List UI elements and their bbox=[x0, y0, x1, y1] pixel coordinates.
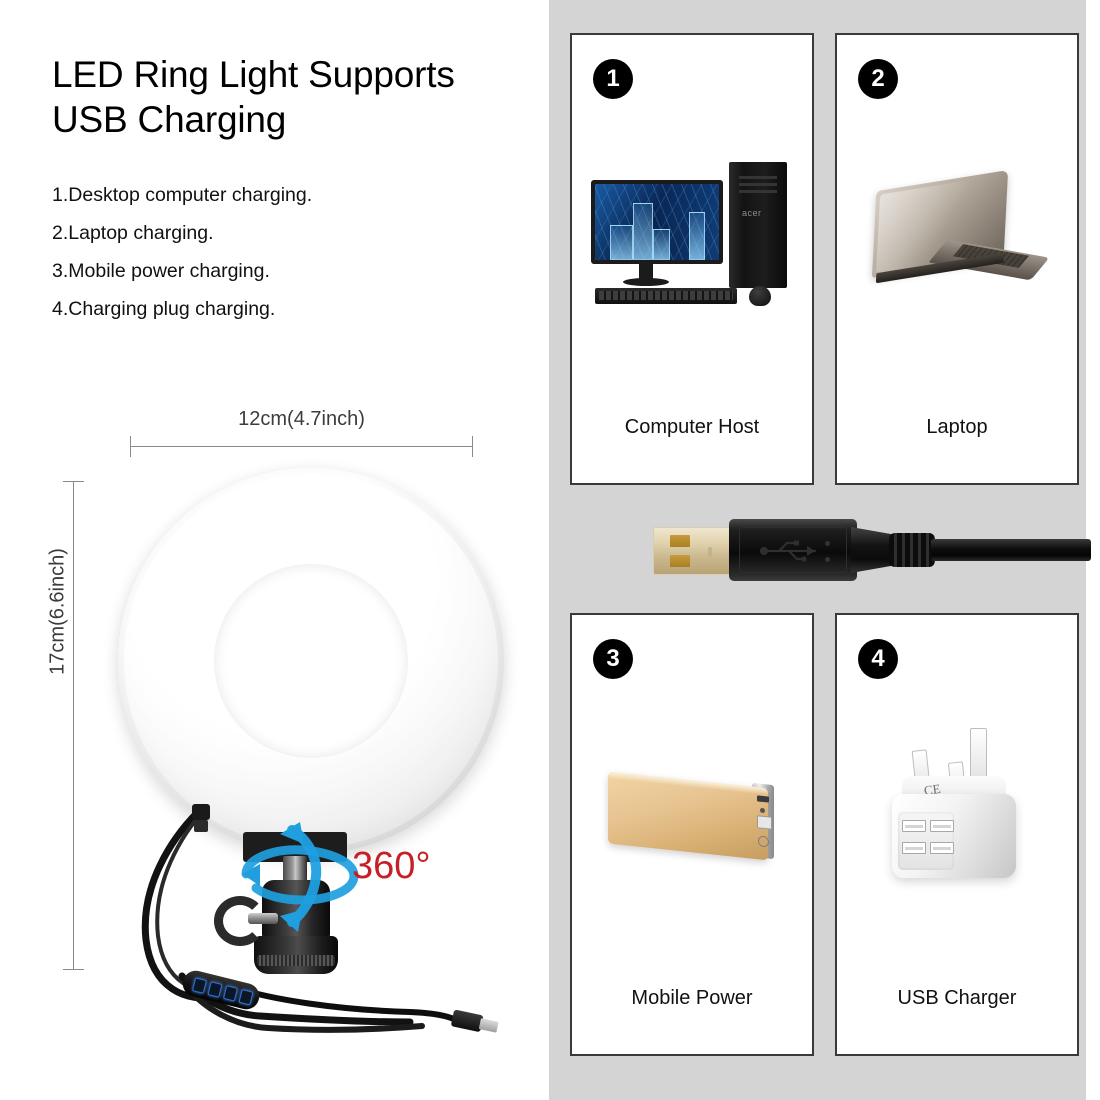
power-bank-icon bbox=[572, 761, 812, 871]
power-cable bbox=[110, 790, 530, 1080]
usb-contact-blade bbox=[670, 535, 690, 547]
keyboard-icon bbox=[595, 288, 737, 304]
product-info-column: LED Ring Light Supports USB Charging 1.D… bbox=[0, 0, 549, 1100]
usb-wall-charger-icon: CE bbox=[837, 715, 1077, 895]
list-item: 4.Charging plug charging. bbox=[52, 290, 512, 328]
charging-options-panel: 1 acer Computer Host 2 bbox=[549, 0, 1086, 1100]
height-dimension-label: 17cm(6.6inch) bbox=[47, 492, 70, 732]
usb-port bbox=[902, 842, 926, 854]
usb-housing-dots bbox=[825, 541, 830, 573]
usb-contact-blade bbox=[670, 555, 690, 567]
usb-housing bbox=[729, 519, 857, 581]
page-title: LED Ring Light Supports USB Charging bbox=[52, 52, 512, 142]
usb-port bbox=[930, 820, 954, 832]
controller-button[interactable] bbox=[223, 985, 238, 1001]
list-item: 3.Mobile power charging. bbox=[52, 252, 512, 290]
power-bank-usb-port bbox=[757, 815, 772, 830]
card-label: Laptop bbox=[837, 416, 1077, 439]
power-bank-micro-usb-port bbox=[757, 795, 769, 802]
badge-number: 1 bbox=[593, 59, 633, 99]
desktop-computer-icon: acer bbox=[572, 153, 812, 313]
power-bank-led bbox=[760, 808, 765, 814]
controller-button[interactable] bbox=[192, 977, 207, 993]
card-usb-charger[interactable]: 4 CE USB Charger bbox=[835, 613, 1079, 1056]
controller-button[interactable] bbox=[207, 981, 222, 997]
mouse-icon bbox=[749, 286, 771, 306]
usb-metal-shroud bbox=[653, 527, 733, 575]
badge-number: 3 bbox=[593, 639, 633, 679]
card-computer-host[interactable]: 1 acer Computer Host bbox=[570, 33, 814, 485]
usb-port bbox=[902, 820, 926, 832]
tower-brand-label: acer bbox=[742, 208, 762, 218]
usb-cable-taper bbox=[851, 527, 893, 573]
monitor-base bbox=[623, 278, 669, 286]
usb-trident-icon bbox=[759, 539, 825, 563]
list-item: 2.Laptop charging. bbox=[52, 214, 512, 252]
controller-button[interactable] bbox=[238, 989, 253, 1005]
monitor-screen bbox=[595, 184, 719, 260]
feature-list: 1.Desktop computer charging. 2.Laptop ch… bbox=[52, 176, 512, 328]
card-label: Computer Host bbox=[572, 416, 812, 439]
usb-cable bbox=[931, 539, 1091, 561]
height-dimension-line bbox=[73, 481, 74, 970]
card-label: USB Charger bbox=[837, 987, 1077, 1010]
card-mobile-power[interactable]: 3 Mobile Power bbox=[570, 613, 814, 1056]
usb-strain-relief bbox=[889, 533, 935, 567]
pc-tower-icon: acer bbox=[729, 162, 787, 288]
card-label: Mobile Power bbox=[572, 987, 812, 1010]
usb-notch bbox=[708, 547, 712, 557]
power-bank-body bbox=[608, 772, 768, 861]
ring-light-center-hole bbox=[214, 564, 408, 758]
list-item: 1.Desktop computer charging. bbox=[52, 176, 512, 214]
power-bank-button bbox=[758, 835, 769, 847]
usb-plug-tip bbox=[479, 1018, 499, 1033]
card-laptop[interactable]: 2 Laptop bbox=[835, 33, 1079, 485]
monitor-icon bbox=[591, 180, 723, 264]
usb-type-a-connector bbox=[653, 511, 1087, 589]
badge-number: 2 bbox=[858, 59, 898, 99]
badge-number: 4 bbox=[858, 639, 898, 679]
width-dimension-line bbox=[130, 446, 473, 447]
ring-light-highlight bbox=[188, 496, 358, 566]
usb-port bbox=[930, 842, 954, 854]
width-dimension-label: 12cm(4.7inch) bbox=[130, 408, 473, 431]
laptop-icon bbox=[837, 170, 1077, 300]
